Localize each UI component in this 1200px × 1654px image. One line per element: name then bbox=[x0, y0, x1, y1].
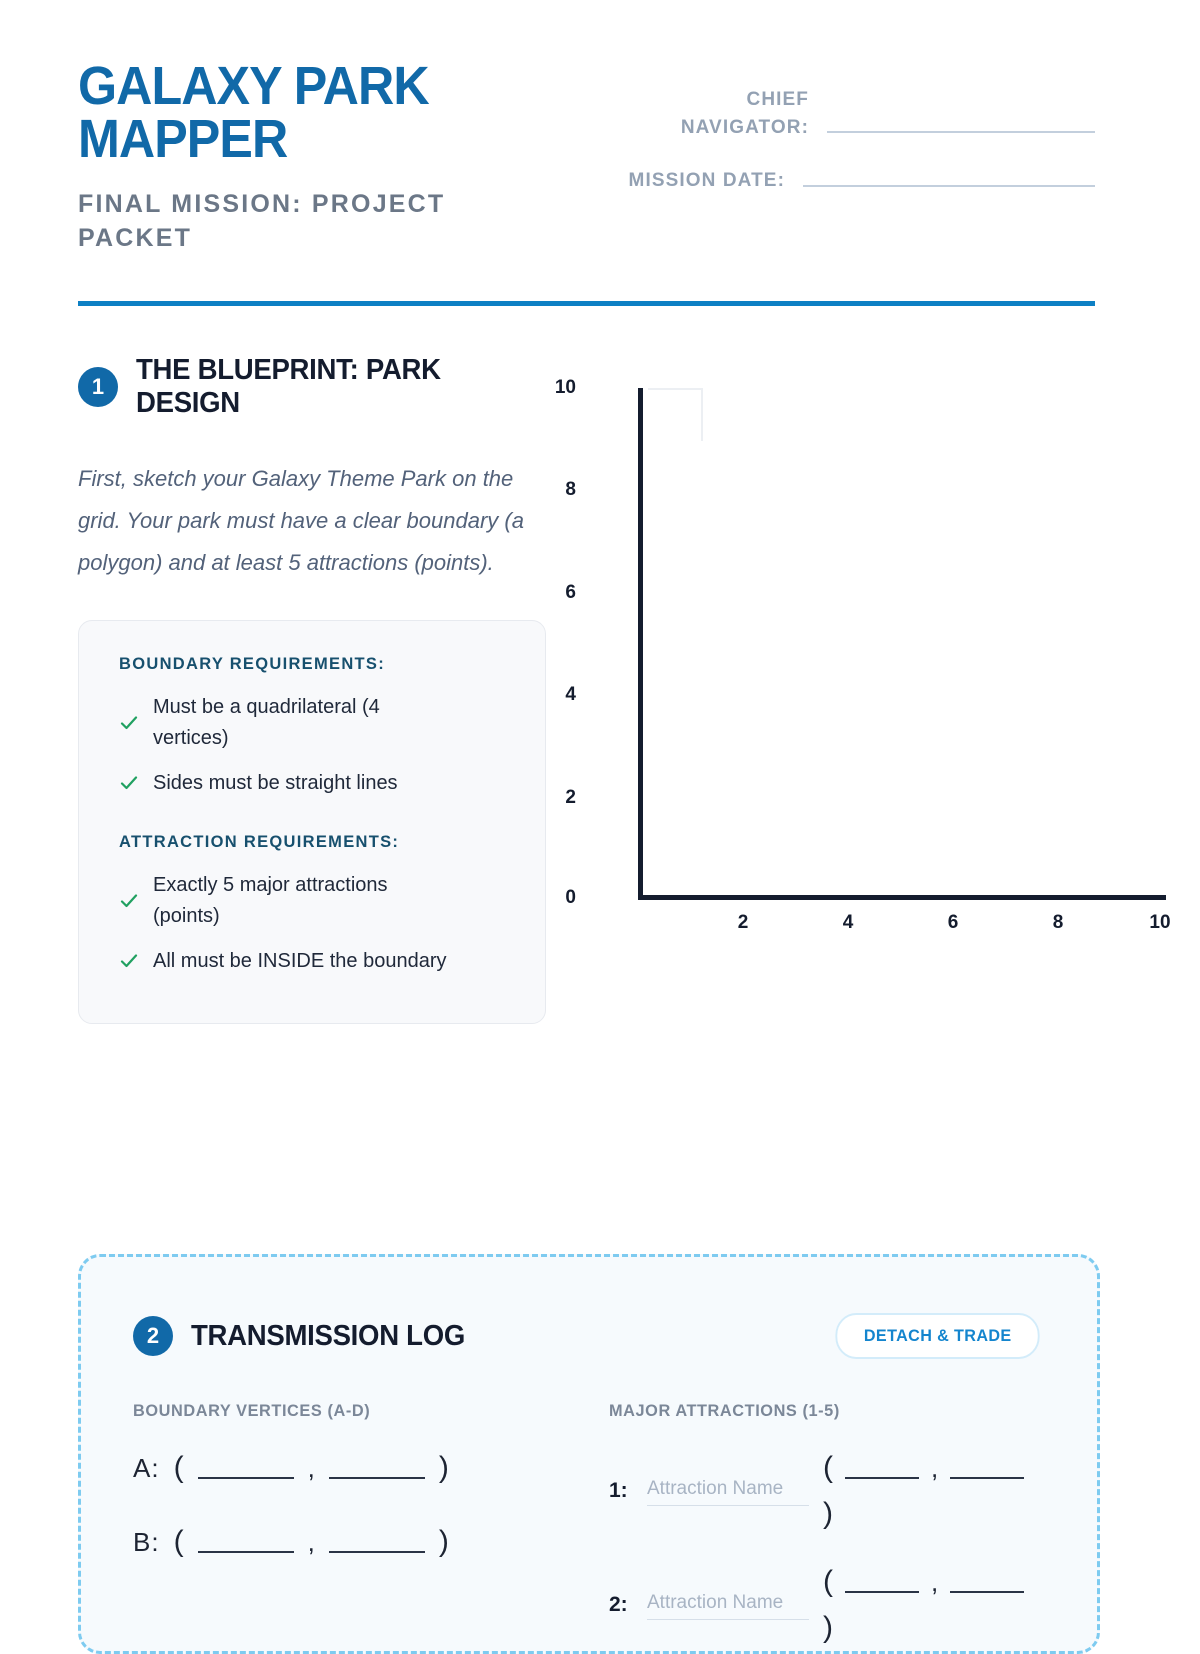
attraction-number: 2: bbox=[609, 1593, 633, 1617]
requirement-item: Sides must be straight lines bbox=[119, 768, 515, 799]
y-tick-label: 4 bbox=[536, 684, 576, 706]
x-tick-label: 6 bbox=[948, 912, 959, 934]
attraction-name-input[interactable]: Attraction Name bbox=[647, 1476, 809, 1507]
coord-comma: , bbox=[931, 1453, 938, 1484]
blueprint-left-column: 1 THE BLUEPRINT: PARK DESIGN First, sket… bbox=[78, 354, 570, 1023]
vertex-label: B: bbox=[133, 1527, 160, 1558]
log-columns: BOUNDARY VERTICES (A-D) A: ( , ) B: ( , … bbox=[133, 1401, 1045, 1654]
boundary-requirements-title: BOUNDARY REQUIREMENTS: bbox=[119, 655, 515, 674]
close-paren: ) bbox=[823, 1497, 833, 1531]
attraction-row[interactable]: 1: Attraction Name ( , ) bbox=[609, 1451, 1045, 1531]
blueprint-instructions: First, sketch your Galaxy Theme Park on … bbox=[78, 458, 548, 583]
boundary-vertices-label: BOUNDARY VERTICES (A-D) bbox=[133, 1401, 552, 1421]
y-tick-label: 0 bbox=[536, 887, 576, 909]
attraction-x-input[interactable] bbox=[845, 1457, 919, 1479]
section1-badge: 1 bbox=[78, 367, 118, 407]
vertex-row[interactable]: A: ( , ) bbox=[133, 1451, 569, 1485]
coord-comma: , bbox=[308, 1453, 315, 1484]
header-fields: CHIEF NAVIGATOR: MISSION DATE: bbox=[548, 60, 1095, 221]
transmission-log-panel: 2 TRANSMISSION LOG DETACH & TRADE BOUNDA… bbox=[78, 1254, 1100, 1654]
requirements-card: BOUNDARY REQUIREMENTS: Must be a quadril… bbox=[78, 620, 546, 1024]
grid-plot-area[interactable] bbox=[638, 388, 1166, 900]
header-titles: GALAXY PARK MAPPER FINAL MISSION: PROJEC… bbox=[78, 60, 548, 255]
page-title: GALAXY PARK MAPPER bbox=[78, 60, 515, 166]
requirement-item: All must be INSIDE the boundary bbox=[119, 946, 515, 977]
mission-date-label: MISSION DATE: bbox=[629, 167, 785, 195]
chief-navigator-label: CHIEF NAVIGATOR: bbox=[649, 86, 809, 141]
attraction-number: 1: bbox=[609, 1479, 633, 1503]
section2-heading-row: 2 TRANSMISSION LOG DETACH & TRADE bbox=[133, 1313, 1045, 1359]
attraction-name-input[interactable]: Attraction Name bbox=[647, 1590, 809, 1621]
open-paren: ( bbox=[823, 1565, 833, 1599]
check-icon bbox=[119, 773, 139, 793]
section2-title: TRANSMISSION LOG bbox=[191, 1320, 465, 1353]
open-paren: ( bbox=[823, 1451, 833, 1485]
close-paren: ) bbox=[823, 1611, 833, 1645]
vertex-x-input[interactable] bbox=[198, 1457, 294, 1479]
vertex-row[interactable]: B: ( , ) bbox=[133, 1525, 569, 1559]
attraction-row[interactable]: 2: Attraction Name ( , ) bbox=[609, 1565, 1045, 1645]
coord-comma: , bbox=[308, 1527, 315, 1558]
mission-date-field[interactable]: MISSION DATE: bbox=[548, 167, 1095, 195]
attraction-requirements-title: ATTRACTION REQUIREMENTS: bbox=[119, 833, 515, 852]
page-header: GALAXY PARK MAPPER FINAL MISSION: PROJEC… bbox=[0, 0, 1200, 255]
boundary-vertices-column: BOUNDARY VERTICES (A-D) A: ( , ) B: ( , … bbox=[133, 1401, 569, 1654]
attraction-x-input[interactable] bbox=[845, 1571, 919, 1593]
page-subtitle: FINAL MISSION: PROJECT PACKET bbox=[78, 188, 548, 256]
chief-navigator-input-line[interactable] bbox=[827, 131, 1095, 133]
x-tick-label: 8 bbox=[1053, 912, 1064, 934]
requirement-text: All must be INSIDE the boundary bbox=[153, 946, 446, 977]
section1-title: THE BLUEPRINT: PARK DESIGN bbox=[136, 354, 548, 420]
attraction-coords[interactable]: ( , ) bbox=[823, 1565, 1033, 1645]
vertex-y-input[interactable] bbox=[329, 1531, 425, 1553]
x-tick-label: 10 bbox=[1149, 912, 1170, 934]
y-tick-label: 2 bbox=[536, 787, 576, 809]
y-tick-label: 10 bbox=[536, 377, 576, 399]
vertex-label: A: bbox=[133, 1453, 160, 1484]
coord-comma: , bbox=[931, 1567, 938, 1598]
chief-navigator-field[interactable]: CHIEF NAVIGATOR: bbox=[548, 86, 1095, 141]
requirement-text: Sides must be straight lines bbox=[153, 768, 398, 799]
close-paren: ) bbox=[439, 1525, 449, 1559]
open-paren: ( bbox=[174, 1451, 184, 1485]
y-tick-label: 8 bbox=[536, 479, 576, 501]
check-icon bbox=[119, 951, 139, 971]
check-icon bbox=[119, 713, 139, 733]
grid-cell-outline bbox=[648, 388, 703, 441]
y-tick-label: 6 bbox=[536, 582, 576, 604]
requirement-text: Exactly 5 major attractions (points) bbox=[153, 870, 453, 932]
section1-heading: 1 THE BLUEPRINT: PARK DESIGN bbox=[78, 354, 570, 420]
worksheet-page: GALAXY PARK MAPPER FINAL MISSION: PROJEC… bbox=[0, 0, 1200, 1600]
major-attractions-label: MAJOR ATTRACTIONS (1-5) bbox=[609, 1401, 1028, 1421]
x-tick-label: 2 bbox=[738, 912, 749, 934]
requirement-text: Must be a quadrilateral (4 vertices) bbox=[153, 692, 453, 754]
park-grid-chart[interactable]: 10 8 6 4 2 0 2 4 6 8 10 bbox=[580, 364, 1200, 1023]
close-paren: ) bbox=[439, 1451, 449, 1485]
major-attractions-column: MAJOR ATTRACTIONS (1-5) 1: Attraction Na… bbox=[569, 1401, 1045, 1654]
check-icon bbox=[119, 891, 139, 911]
x-tick-label: 4 bbox=[843, 912, 854, 934]
attraction-y-input[interactable] bbox=[950, 1457, 1024, 1479]
detach-and-trade-button[interactable]: DETACH & TRADE bbox=[835, 1313, 1040, 1359]
attraction-coords[interactable]: ( , ) bbox=[823, 1451, 1033, 1531]
requirement-item: Exactly 5 major attractions (points) bbox=[119, 870, 515, 932]
mission-date-input-line[interactable] bbox=[803, 185, 1095, 187]
open-paren: ( bbox=[174, 1525, 184, 1559]
section2-heading: 2 TRANSMISSION LOG bbox=[133, 1316, 479, 1356]
attraction-y-input[interactable] bbox=[950, 1571, 1024, 1593]
section2-badge: 2 bbox=[133, 1316, 173, 1356]
requirement-item: Must be a quadrilateral (4 vertices) bbox=[119, 692, 515, 754]
section-blueprint: 1 THE BLUEPRINT: PARK DESIGN First, sket… bbox=[0, 306, 1200, 1023]
vertex-y-input[interactable] bbox=[329, 1457, 425, 1479]
vertex-x-input[interactable] bbox=[198, 1531, 294, 1553]
